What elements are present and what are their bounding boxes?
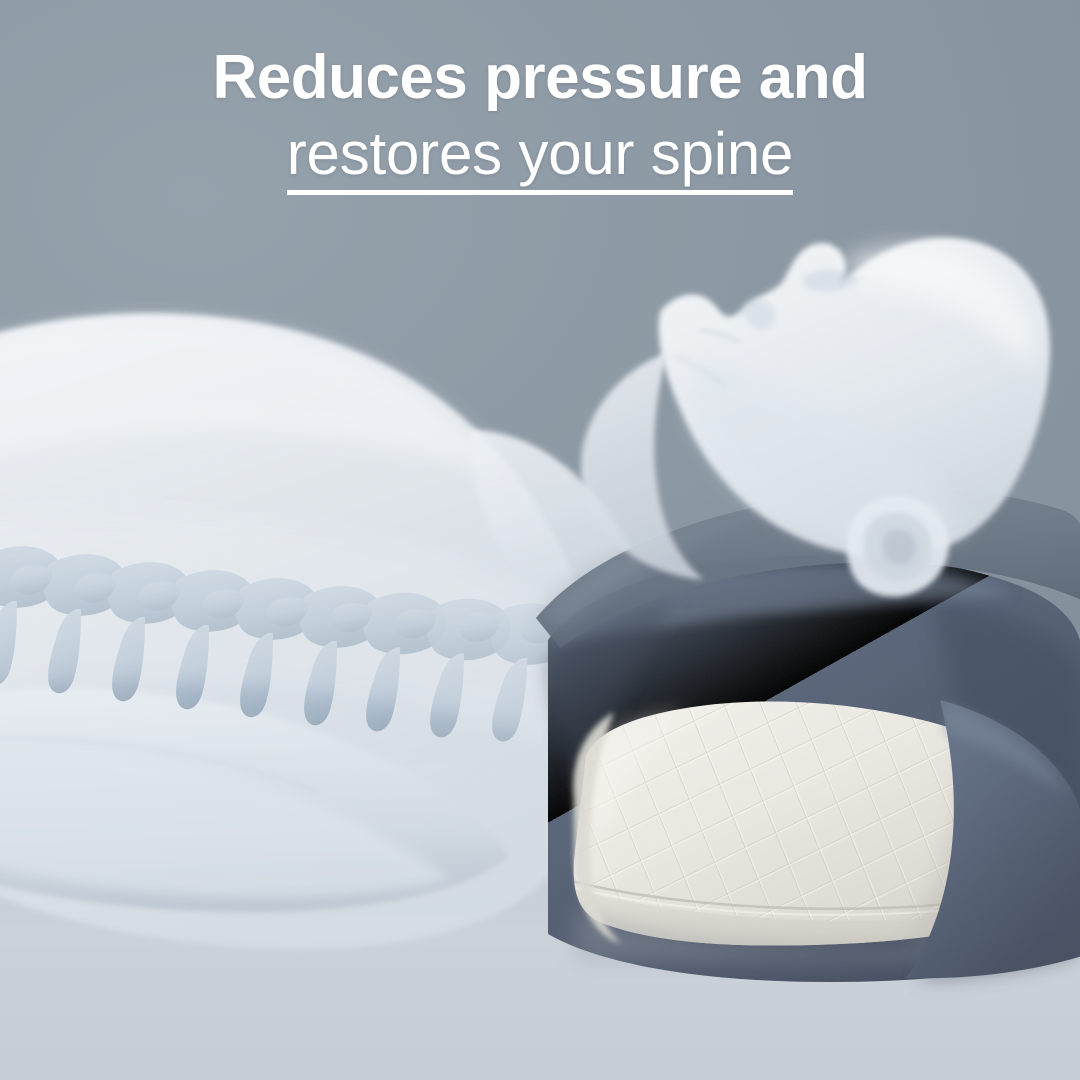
headline-line-2: restores your spine [287,123,793,195]
ad-creative: Reduces pressure and restores your spine [0,0,1080,1080]
headline-block: Reduces pressure and restores your spine [0,46,1080,195]
headline-line-1: Reduces pressure and [0,46,1080,109]
